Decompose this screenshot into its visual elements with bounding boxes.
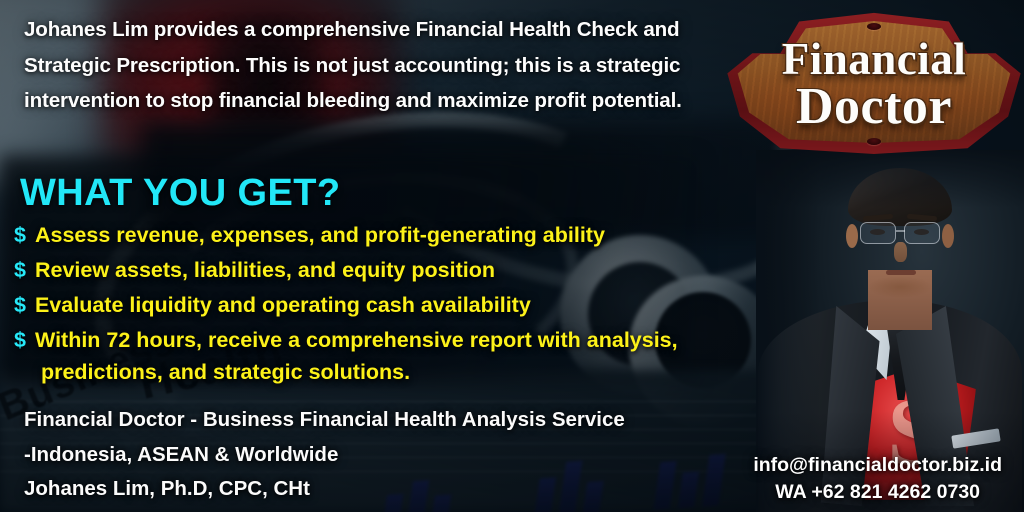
page-title: WHAT YOU GET? — [20, 172, 340, 215]
financial-doctor-logo-badge: Financial Doctor — [718, 10, 1024, 154]
badge-title-line1: Financial — [782, 37, 967, 81]
badge-title-line2: Doctor — [796, 81, 952, 132]
list-item: $ Assess revenue, expenses, and profit-g… — [14, 219, 794, 251]
footer-info: Financial Doctor - Business Financial He… — [24, 403, 724, 507]
list-item-label: Review assets, liabilities, and equity p… — [35, 254, 495, 286]
dollar-marker-icon: $ — [14, 219, 26, 251]
list-item-label: Assess revenue, expenses, and profit-gen… — [35, 219, 605, 251]
dollar-marker-icon: $ — [14, 254, 26, 286]
footer-line-service: Financial Doctor - Business Financial He… — [24, 403, 724, 438]
contact-whatsapp[interactable]: WA +62 821 4262 0730 — [753, 479, 1002, 506]
list-item: $ Review assets, liabilities, and equity… — [14, 254, 794, 286]
list-item-label: Evaluate liquidity and operating cash av… — [35, 289, 531, 321]
dollar-marker-icon: $ — [14, 324, 26, 356]
financial-doctor-promo-poster: Business Health S — [0, 0, 1024, 512]
list-item-label-line1: Within 72 hours, receive a comprehensive… — [35, 328, 678, 352]
contact-email[interactable]: info@financialdoctor.biz.id — [753, 452, 1002, 479]
list-item-label-line2: predictions, and strategic solutions. — [35, 356, 678, 388]
footer-line-name: Johanes Lim, Ph.D, CPC, CHt — [24, 472, 724, 507]
list-item-label: Within 72 hours, receive a comprehensive… — [35, 324, 678, 388]
contact-info: info@financialdoctor.biz.id WA +62 821 4… — [753, 452, 1002, 506]
dollar-marker-icon: $ — [14, 289, 26, 321]
benefits-list: $ Assess revenue, expenses, and profit-g… — [14, 219, 794, 391]
intro-paragraph: Johanes Lim provides a comprehensive Fin… — [24, 12, 724, 119]
list-item: $ Within 72 hours, receive a comprehensi… — [14, 324, 794, 388]
list-item: $ Evaluate liquidity and operating cash … — [14, 289, 794, 321]
badge-title-group: Financial Doctor — [718, 10, 1024, 154]
footer-line-region: -Indonesia, ASEAN & Worldwide — [24, 438, 724, 473]
